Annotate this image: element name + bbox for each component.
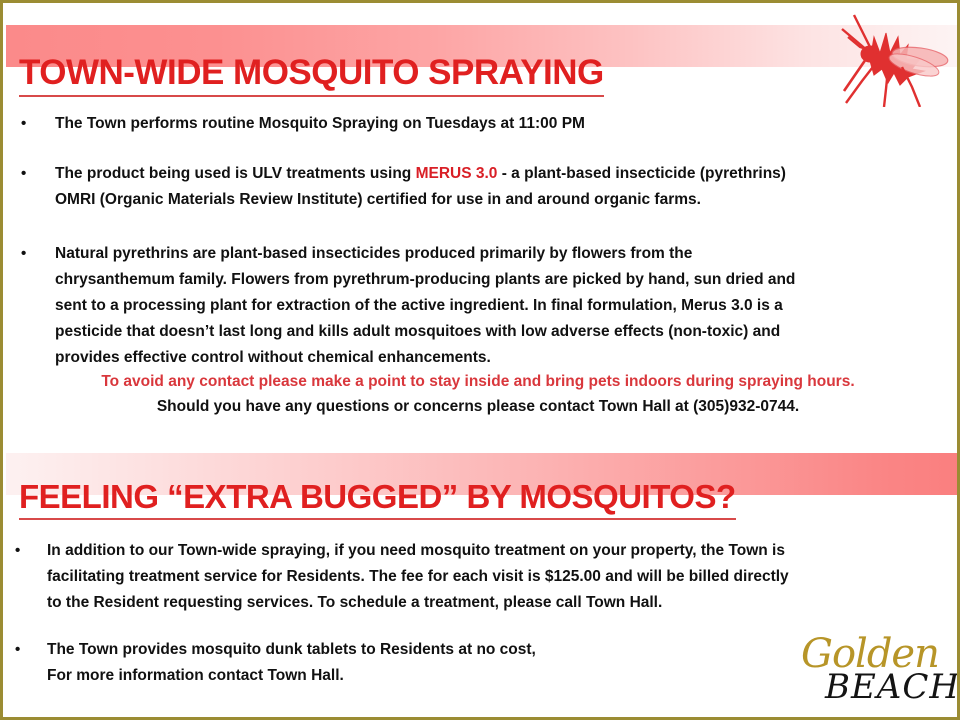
bullet-line-text-a: The product being used is ULV treatments… [55,165,416,182]
flyer-slide: TOWN-WIDE MOSQUITO SPRAYING • The Town p… [0,0,960,720]
bullet-marker: • [21,161,26,187]
bullet-line: chrysanthemum family. Flowers from pyret… [55,267,953,293]
bullet-line: OMRI (Organic Materials Review Institute… [55,187,948,213]
bullet-line: sent to a processing plant for extractio… [55,293,953,319]
bullet-line: to the Resident requesting services. To … [47,590,955,616]
bullet-line: Natural pyrethrins are plant-based insec… [55,241,953,267]
section-one-heading: TOWN-WIDE MOSQUITO SPRAYING [19,53,604,97]
bullet-item-spraying-schedule: • The Town performs routine Mosquito Spr… [3,111,948,137]
safety-notice: To avoid any contact please make a point… [3,369,953,420]
bullet-line: In addition to our Town-wide spraying, i… [47,538,955,564]
section-two-heading: FEELING “EXTRA BUGGED” BY MOSQUITOS? [19,478,736,520]
bullet-marker: • [15,637,20,663]
bullet-line: The product being used is ULV treatments… [55,161,948,187]
logo-word-beach: BEACH [825,667,960,707]
safety-notice-contact-line: Should you have any questions or concern… [3,394,953,420]
bullet-marker: • [21,241,26,267]
bullet-item-private-treatment: • In addition to our Town-wide spraying,… [3,538,955,616]
bullet-line: provides effective control without chemi… [55,345,953,371]
bullet-item-pyrethrins-info: • Natural pyrethrins are plant-based ins… [3,241,953,371]
product-name-highlight: MERUS 3.0 [416,165,498,182]
bullet-line: facilitating treatment service for Resid… [47,564,955,590]
bullet-line: The Town performs routine Mosquito Spray… [55,111,948,137]
bullet-marker: • [15,538,20,564]
bullet-line: pesticide that doesn’t last long and kil… [55,319,953,345]
bullet-marker: • [21,111,26,137]
safety-notice-red-line: To avoid any contact please make a point… [3,369,953,394]
bullet-line-text-b: - a plant-based insecticide (pyrethrins) [497,165,786,182]
mosquito-icon [808,7,958,107]
golden-beach-logo: Golden BEACH [791,631,951,709]
bullet-item-product-used: • The product being used is ULV treatmen… [3,161,948,213]
